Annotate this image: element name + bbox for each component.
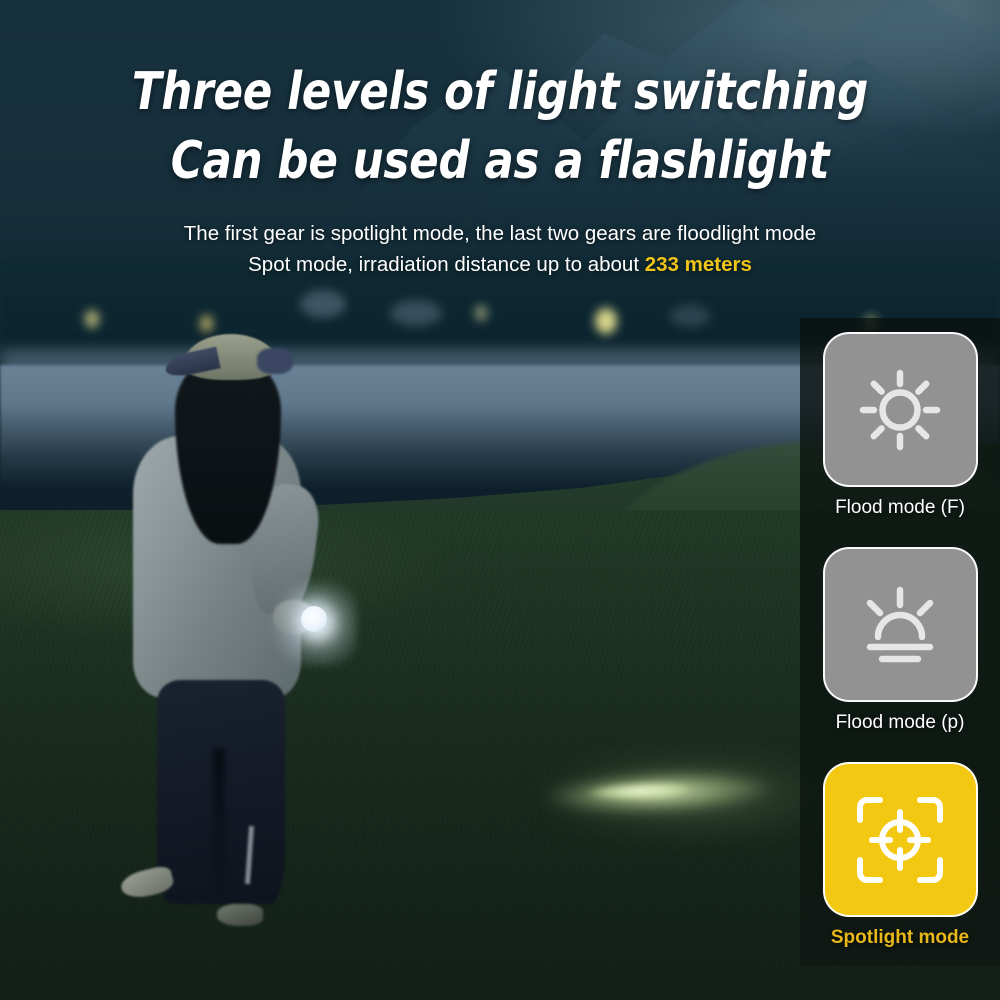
- crosshair-icon: [850, 790, 950, 890]
- flashlight-lamp: [301, 606, 327, 632]
- mode-tile-flood-f[interactable]: [823, 332, 978, 487]
- mode-tile-flood-p[interactable]: [823, 547, 978, 702]
- mode-label-flood-p: Flood mode (p): [800, 712, 1000, 734]
- mode-option-flood-p[interactable]: Flood mode (p): [800, 547, 1000, 734]
- headline: Three levels of light switching Can be u…: [35, 58, 965, 195]
- leg-gap: [213, 748, 225, 898]
- mode-option-flood-f[interactable]: Flood mode (F): [800, 332, 1000, 519]
- headline-line-2: Can be used as a flashlight: [35, 127, 965, 196]
- sunrise-icon: [854, 579, 946, 671]
- promo-banner: Three levels of light switching Can be u…: [0, 0, 1000, 1000]
- subtitle: The first gear is spotlight mode, the la…: [0, 218, 1000, 280]
- mode-option-spotlight[interactable]: Spotlight mode: [800, 762, 1000, 949]
- subtitle-line-1: The first gear is spotlight mode, the la…: [0, 218, 1000, 249]
- mode-tile-spotlight[interactable]: [823, 762, 978, 917]
- subtitle-line-2-prefix: Spot mode, irradiation distance up to ab…: [248, 253, 645, 276]
- subtitle-line-2: Spot mode, irradiation distance up to ab…: [0, 249, 1000, 280]
- distant-light: [300, 290, 346, 318]
- cap-back: [257, 348, 293, 374]
- headline-line-1: Three levels of light switching: [132, 62, 868, 122]
- mode-label-flood-f: Flood mode (F): [800, 497, 1000, 519]
- distant-light: [475, 305, 487, 321]
- distance-highlight: 233 meters: [645, 253, 752, 276]
- sun-icon: [855, 365, 945, 455]
- distant-light: [670, 305, 710, 327]
- distant-light: [595, 308, 617, 334]
- right-shoe: [217, 904, 263, 926]
- mode-panel: Flood mode (F) Flood mode (p): [800, 318, 1000, 966]
- mode-label-spotlight: Spotlight mode: [800, 927, 1000, 949]
- distant-light: [85, 310, 99, 328]
- person-figure: [105, 318, 355, 928]
- distant-light: [390, 300, 442, 326]
